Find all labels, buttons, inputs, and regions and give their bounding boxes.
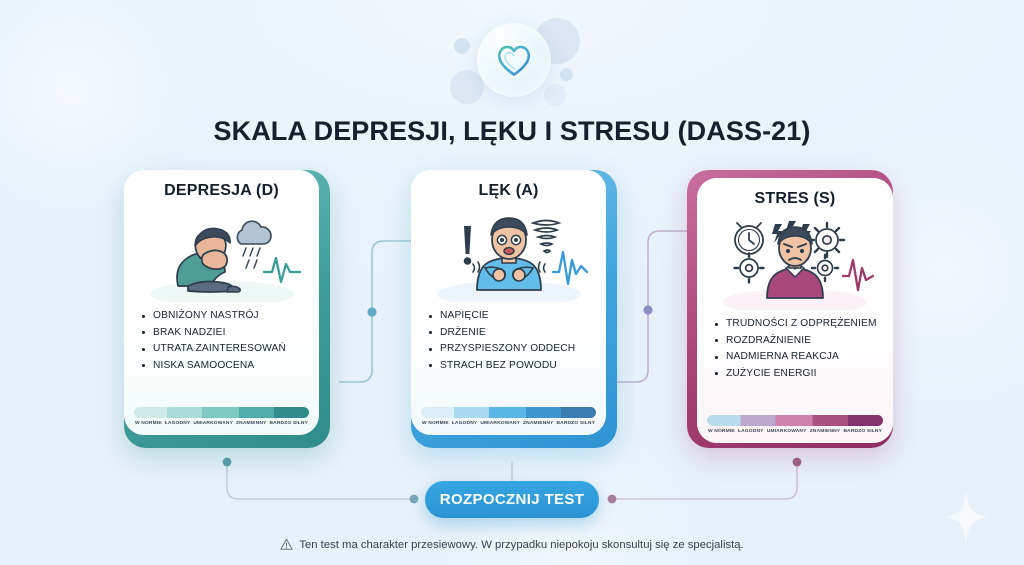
start-test-button[interactable]: ROZPOCZNIJ TEST (425, 481, 599, 518)
footer-disclaimer: Ten test ma charakter przesiewowy. W prz… (0, 538, 1024, 551)
sad-person-rain-cloud-heartbeat-icon (142, 202, 302, 302)
list-item: BRAK NADZIEI (142, 325, 309, 342)
illustration-stres (697, 210, 893, 310)
severity-scale-depresja: W NORMIE ŁAGODNY UMIARKOWANY ZNAMIENNY B… (124, 407, 319, 435)
illustration-lek (411, 202, 606, 302)
card-lek[interactable]: LĘK (A) (411, 170, 617, 448)
card-stres[interactable]: STRES (S) (687, 170, 893, 448)
heart-icon (496, 44, 532, 77)
bokeh-circle (454, 38, 470, 54)
scale-label: ŁAGODNY (738, 429, 764, 434)
severity-bar (134, 407, 309, 418)
list-item: ROZDRAŻNIENIE (715, 333, 883, 350)
scale-label: W NORMIE (708, 429, 735, 434)
scale-label: UMIARKOWANY (480, 421, 520, 426)
severity-labels: W NORMIE ŁAGODNY UMIARKOWANY ZNAMIENNY B… (707, 429, 883, 434)
list-item: NAPIĘCIE (429, 308, 596, 325)
bokeh-circle (560, 68, 573, 81)
severity-labels: W NORMIE ŁAGODNY UMIARKOWANY ZNAMIENNY B… (421, 421, 596, 426)
scale-label: UMIARKOWANY (193, 421, 233, 426)
scale-label: ŁAGODNY (452, 421, 478, 426)
scale-label: UMIARKOWANY (767, 429, 807, 434)
severity-labels: W NORMIE ŁAGODNY UMIARKOWANY ZNAMIENNY B… (134, 421, 309, 426)
logo (0, 10, 1024, 110)
scale-label: BARDZO SILNY (270, 421, 308, 426)
bokeh-circle (450, 70, 484, 104)
list-item: TRUDNOŚCI Z ODPRĘŻENIEM (715, 316, 883, 333)
list-item: OBNIŻONY NASTRÓJ (142, 308, 309, 325)
card-depresja[interactable]: DEPRESJA (D) (124, 170, 330, 448)
logo-orb (477, 23, 551, 97)
connector-dot (793, 458, 802, 467)
list-item: DRŻENIE (429, 325, 596, 342)
card-face: DEPRESJA (D) (124, 170, 319, 435)
list-item: STRACH BEZ POWODU (429, 358, 596, 375)
connector-dot (608, 495, 617, 504)
scale-label: ZNAMIENNY (810, 429, 840, 434)
scale-label: ZNAMIENNY (236, 421, 266, 426)
card-face: STRES (S) (697, 178, 893, 443)
sparkle-decoration (944, 491, 988, 543)
severity-scale-lek: W NORMIE ŁAGODNY UMIARKOWANY ZNAMIENNY B… (411, 407, 606, 435)
footer-text: Ten test ma charakter przesiewowy. W prz… (299, 539, 743, 551)
scale-label: BARDZO SILNY (844, 429, 882, 434)
connector-dot (410, 495, 419, 504)
connector-dot (367, 307, 376, 316)
scale-label: ŁAGODNY (165, 421, 191, 426)
scale-label: ZNAMIENNY (523, 421, 553, 426)
page-title: SKALA DEPRESJI, LĘKU I STRESU (DASS-21) (0, 116, 1024, 147)
list-item: NISKA SAMOOCENA (142, 358, 309, 375)
stressed-person-clock-gears-heartbeat-icon (715, 210, 875, 310)
bokeh-circle (544, 84, 566, 106)
scale-label: W NORMIE (422, 421, 449, 426)
severity-scale-stres: W NORMIE ŁAGODNY UMIARKOWANY ZNAMIENNY B… (697, 415, 893, 443)
anxious-person-tornado-heartbeat-icon (429, 202, 589, 302)
card-title: STRES (S) (697, 190, 893, 208)
card-title: DEPRESJA (D) (124, 182, 319, 200)
list-item: ZUŻYCIE ENERGII (715, 366, 883, 383)
scale-label: BARDZO SILNY (557, 421, 595, 426)
symptom-list-depresja: OBNIŻONY NASTRÓJ BRAK NADZIEI UTRATA ZAI… (124, 308, 319, 407)
connector-dot (643, 305, 652, 314)
card-face: LĘK (A) (411, 170, 606, 435)
connector-dot (223, 458, 232, 467)
list-item: UTRATA ZAINTERESOWAŃ (142, 341, 309, 358)
symptom-list-lek: NAPIĘCIE DRŻENIE PRZYSPIESZONY ODDECH ST… (411, 308, 606, 407)
severity-bar (421, 407, 596, 418)
list-item: PRZYSPIESZONY ODDECH (429, 341, 596, 358)
illustration-depresja (124, 202, 319, 302)
card-title: LĘK (A) (411, 182, 606, 200)
severity-bar (707, 415, 883, 426)
warning-triangle-icon (280, 538, 293, 551)
scale-label: W NORMIE (135, 421, 162, 426)
symptom-list-stres: TRUDNOŚCI Z ODPRĘŻENIEM ROZDRAŻNIENIE NA… (697, 316, 893, 415)
list-item: NADMIERNA REAKCJA (715, 349, 883, 366)
